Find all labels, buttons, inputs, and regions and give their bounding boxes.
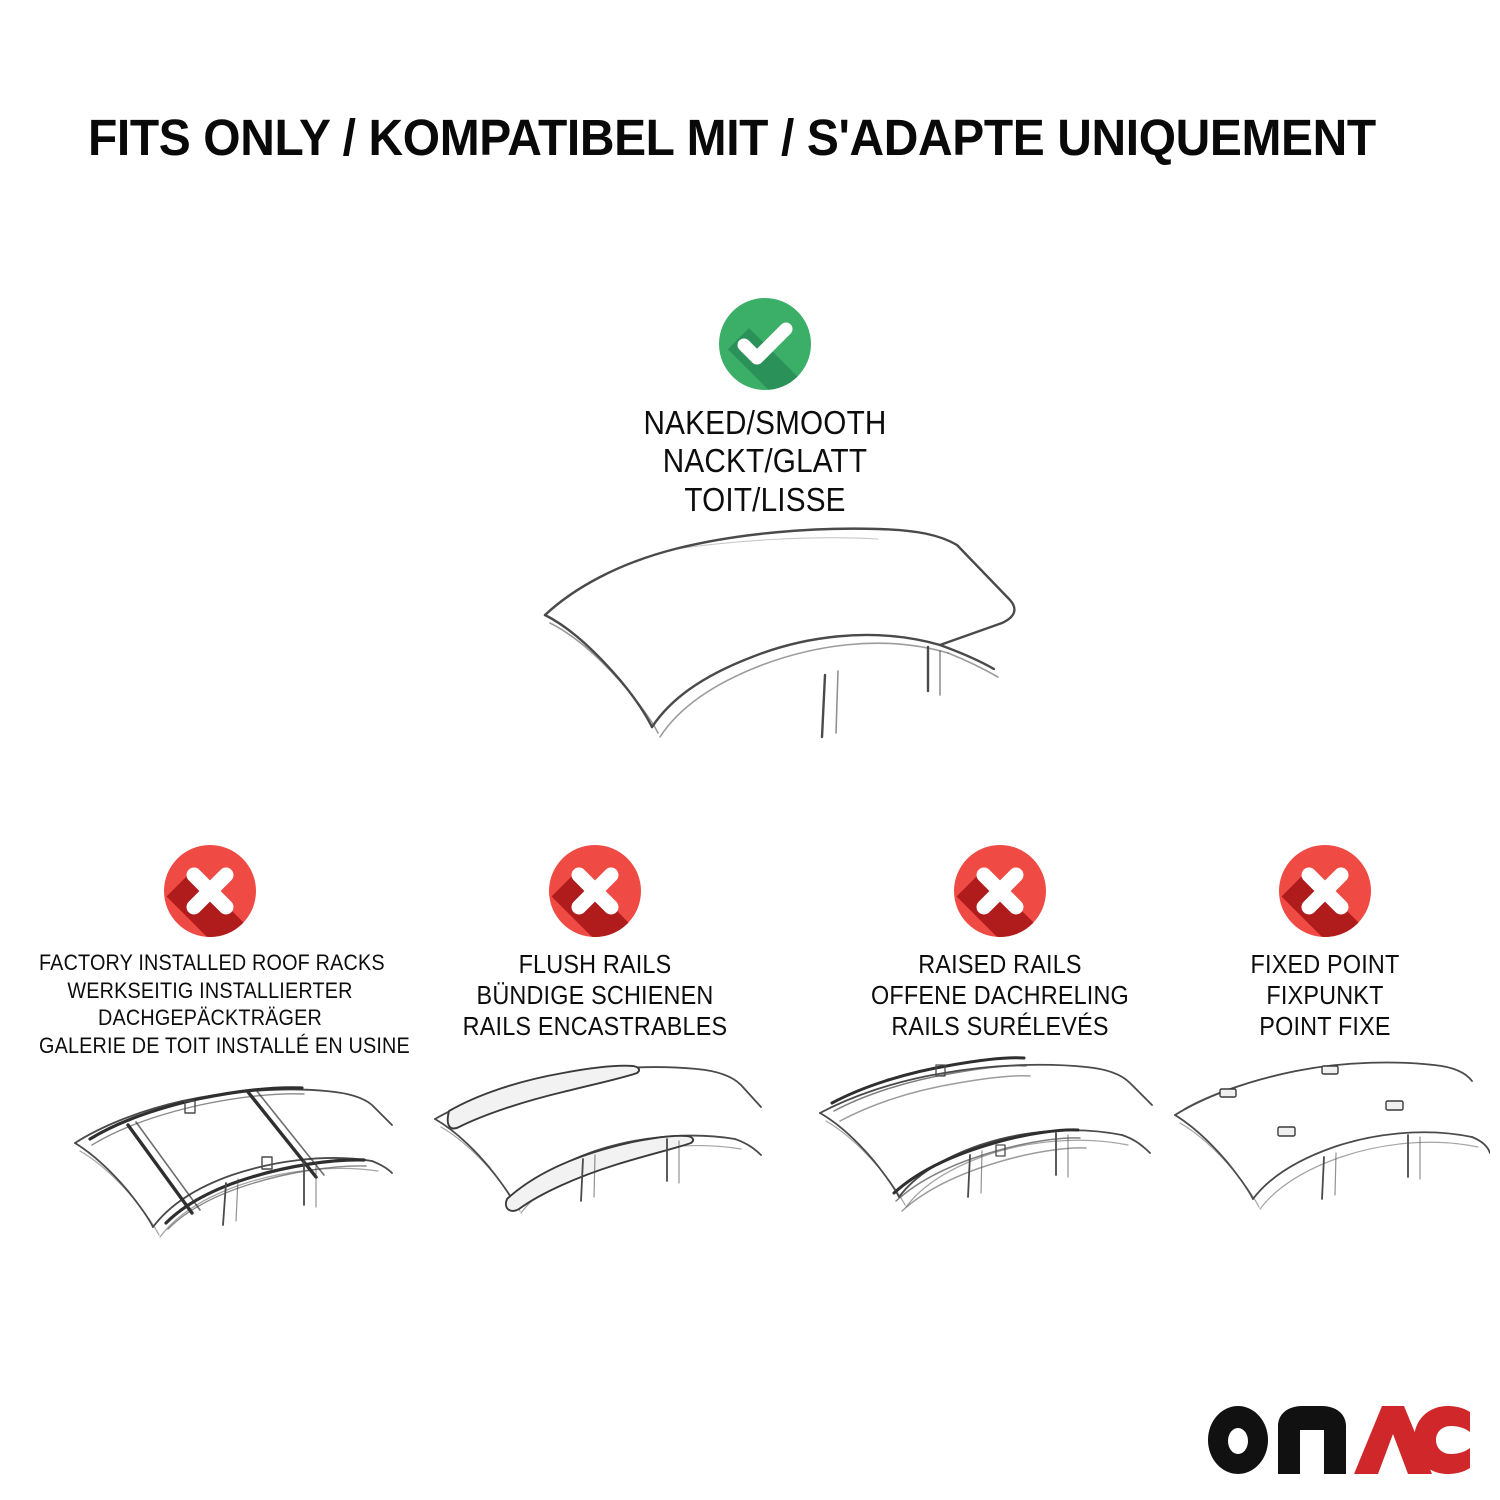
label-fr: GALERIE DE TOIT INSTALLÉ EN USINE [39,1032,381,1060]
incompatible-labels: FACTORY INSTALLED ROOF RACKS WERKSEITIG … [39,949,381,1059]
omac-logo [1202,1400,1470,1478]
car-roof-raised-rails-illustration [810,1049,1190,1279]
label-de-line1: WERKSEITIG INSTALLIERTER [39,977,381,1005]
x-circle-icon [549,845,641,937]
label-de: OFFENE DACHRELING [829,980,1171,1011]
car-roof-naked-smooth-illustration [470,505,1050,795]
check-mark-glyph [719,298,811,390]
check-circle-background [719,298,811,390]
car-roof-factory-rack-illustration [20,1065,400,1295]
label-fr: RAILS ENCASTRABLES [424,1011,766,1042]
x-mark-glyph [954,845,1046,937]
incompatible-item-fixed-point: FIXED POINT FIXPUNKT POINT FIXE [1160,845,1490,1279]
label-en: NAKED/SMOOTH [540,404,990,442]
label-fr: POINT FIXE [1177,1011,1474,1042]
label-de: FIXPUNKT [1177,980,1474,1011]
logo-letter-m [1278,1406,1346,1474]
page-title: FITS ONLY / KOMPATIBEL MIT / S'ADAPTE UN… [88,108,1338,167]
label-de: BÜNDIGE SCHIENEN [424,980,766,1011]
logo-letter-o [1208,1406,1268,1474]
incompatible-roof-types-row: FACTORY INSTALLED ROOF RACKS WERKSEITIG … [0,845,1500,1325]
compatible-roof-type-block: NAKED/SMOOTH NACKT/GLATT TOIT/LISSE [515,298,1015,519]
label-de-line2: DACHGEPÄCKTRÄGER [39,1004,381,1032]
incompatible-labels: FLUSH RAILS BÜNDIGE SCHIENEN RAILS ENCAS… [424,949,766,1043]
incompatible-item-raised-rails: RAISED RAILS OFFENE DACHRELING RAILS SUR… [810,845,1190,1279]
label-fr: RAILS SURÉLEVÉS [829,1011,1171,1042]
x-circle-background [954,845,1046,937]
x-mark-glyph [164,845,256,937]
label-en: FIXED POINT [1177,949,1474,980]
x-circle-background [1279,845,1371,937]
x-circle-background [549,845,641,937]
incompatible-item-flush-rails: FLUSH RAILS BÜNDIGE SCHIENEN RAILS ENCAS… [405,845,785,1279]
x-circle-background [164,845,256,937]
x-circle-icon [164,845,256,937]
incompatible-labels: RAISED RAILS OFFENE DACHRELING RAILS SUR… [829,949,1171,1043]
incompatible-labels: FIXED POINT FIXPUNKT POINT FIXE [1177,949,1474,1043]
car-roof-flush-rails-illustration [405,1049,785,1279]
x-mark-glyph [549,845,641,937]
x-circle-icon [1279,845,1371,937]
x-circle-icon [954,845,1046,937]
car-roof-fixed-point-illustration [1160,1049,1490,1279]
label-en: FLUSH RAILS [424,949,766,980]
label-en: FACTORY INSTALLED ROOF RACKS [39,949,381,977]
label-en: RAISED RAILS [829,949,1171,980]
x-mark-glyph [1279,845,1371,937]
compatible-roof-type-labels: NAKED/SMOOTH NACKT/GLATT TOIT/LISSE [540,404,990,519]
label-de: NACKT/GLATT [540,442,990,480]
check-circle-icon [719,298,811,390]
incompatible-item-factory-rack: FACTORY INSTALLED ROOF RACKS WERKSEITIG … [20,845,400,1295]
